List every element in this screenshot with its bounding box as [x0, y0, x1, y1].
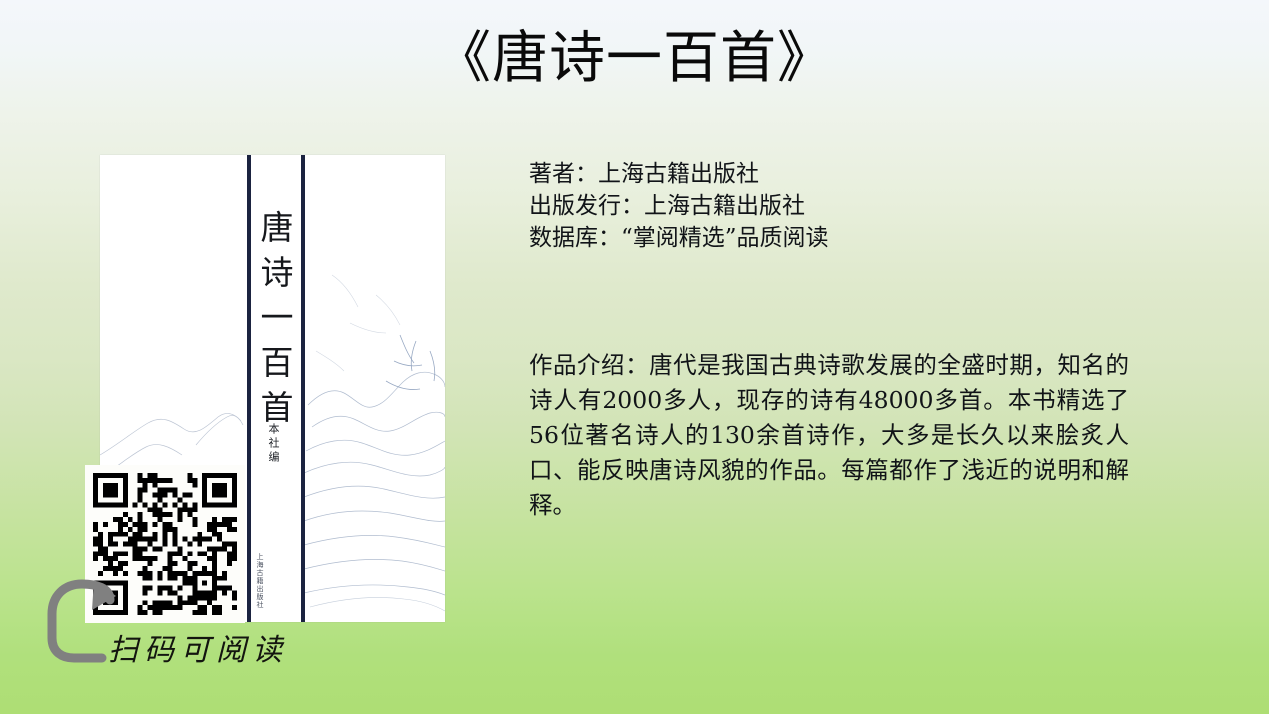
slide-canvas: 《唐诗一百首》: [0, 0, 1269, 714]
description-paragraph: 作品介绍：唐代是我国古典诗歌发展的全盛时期，知名的诗人有2000多人，现存的诗有…: [529, 348, 1129, 523]
metadata-database: 数据库：“掌阅精选”品质阅读: [529, 222, 1129, 254]
cover-publisher-label: 上海古籍出版社: [250, 553, 264, 609]
metadata-block: 著者：上海古籍出版社 出版发行：上海古籍出版社 数据库：“掌阅精选”品质阅读: [529, 158, 1129, 254]
cover-editor-label: 本社编: [260, 423, 280, 465]
metadata-publisher: 出版发行：上海古籍出版社: [529, 190, 1129, 222]
page-title: 《唐诗一百首》: [0, 20, 1269, 98]
cover-vertical-title: 唐诗一百首: [255, 210, 297, 435]
cover-rule-right: [301, 155, 305, 622]
scan-caption: 扫码可阅读: [108, 631, 288, 671]
metadata-author: 著者：上海古籍出版社: [529, 158, 1129, 190]
